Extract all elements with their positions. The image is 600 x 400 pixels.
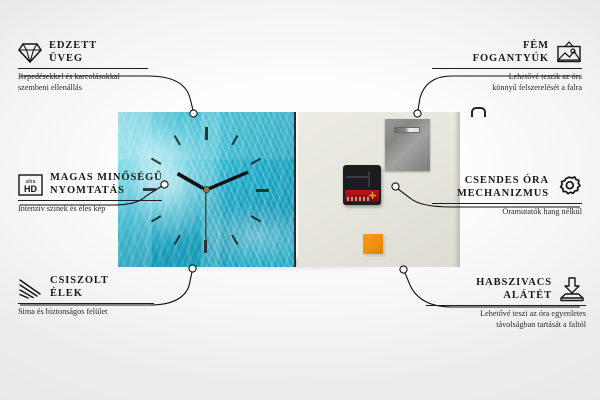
svg-text:HD: HD: [24, 184, 37, 194]
callout-sub-line1: Lehetővé teszi az óra egyenletes: [426, 309, 586, 320]
clock-tick-12: [205, 127, 208, 140]
clock-tick-5: [231, 234, 238, 245]
clock-tick-6: [205, 240, 208, 253]
infographic-stage: EDZETT ÜVEG Repedésekkel és karcolásokka…: [0, 0, 600, 400]
diamond-icon: [18, 42, 42, 63]
metal-hanger-plate: [385, 119, 430, 171]
callout-header: FÉM FOGANTYÚK: [432, 40, 582, 65]
callout-divider: [18, 68, 148, 69]
callout-header: ultra HD MAGAS MINŐSÉGŰ NYOMTATÁS: [18, 172, 168, 197]
callout-divider: [18, 200, 162, 201]
callout-divider: [426, 305, 586, 306]
clock-tick-4: [251, 215, 262, 222]
callout-sub-line1: Sima és biztonságos felület: [18, 307, 158, 318]
clock-tick-8: [151, 215, 162, 222]
callout-title-line2: ÉLEK: [50, 288, 109, 301]
clock-tick-3: [256, 189, 269, 192]
hanger-slot: [394, 127, 420, 133]
mechanism-detail-line: [346, 176, 368, 178]
product-image: [118, 112, 460, 267]
clock-center-cap: [204, 187, 209, 192]
callout-sub-line2: szembeni ellenállás: [18, 83, 158, 94]
callout-divider: [18, 303, 154, 304]
clock-mechanism: [343, 165, 381, 205]
callout-polished-edges[interactable]: CSISZOLT ÉLEK Sima és biztonságos felüle…: [18, 275, 158, 318]
callout-foam-spacer[interactable]: HABSZIVACS ALÁTÉT Lehetővé teszi az óra …: [426, 277, 586, 330]
callout-title-line1: CSENDES ÓRA: [457, 175, 549, 188]
callout-divider: [432, 68, 582, 69]
callout-sub-line1: Intenzív színek és éles kép: [18, 204, 168, 215]
callout-title-line2: FOGANTYÚK: [473, 53, 549, 66]
callout-high-quality-print[interactable]: ultra HD MAGAS MINŐSÉGŰ NYOMTATÁS Intenz…: [18, 172, 168, 215]
ultra-hd-icon: ultra HD: [18, 174, 43, 196]
callout-silent-mechanism[interactable]: CSENDES ÓRA MECHANIZMUS Óramutatók hang …: [432, 175, 582, 218]
clock-tick-1: [231, 134, 238, 145]
callout-sub-line1: Óramutatók hang nélkül: [432, 207, 582, 218]
callout-header: CSISZOLT ÉLEK: [18, 275, 158, 300]
callout-title-line1: CSISZOLT: [50, 275, 109, 288]
clock-minute-hand: [205, 170, 249, 191]
callout-sub-line1: Repedésekkel és karcolásokkal: [18, 72, 158, 83]
callout-title-line1: HABSZIVACS: [476, 277, 552, 290]
clock-tick-7: [174, 234, 181, 245]
callout-sub-line2: távolságban tartását a faltól: [426, 320, 586, 331]
polished-edges-icon: [18, 277, 43, 299]
callout-title-line1: EDZETT: [49, 40, 97, 53]
callout-sub-line2: könnyű felszerelését a falra: [432, 83, 582, 94]
callout-title-line1: FÉM: [473, 40, 549, 53]
clock-tick-10: [151, 157, 162, 164]
callout-header: HABSZIVACS ALÁTÉT: [426, 277, 586, 302]
picture-frame-icon: [556, 41, 582, 65]
clock-tick-11: [174, 134, 181, 145]
callout-header: CSENDES ÓRA MECHANIZMUS: [432, 175, 582, 200]
foam-pad: [363, 234, 383, 254]
callout-title-line1: MAGAS MINŐSÉGŰ: [50, 172, 163, 185]
callout-title-line2: ÜVEG: [49, 53, 97, 66]
callout-title-line2: MECHANIZMUS: [457, 188, 549, 201]
press-down-icon: [559, 277, 586, 302]
clock-hour-hand: [176, 171, 207, 191]
battery-label: [347, 197, 369, 201]
mechanism-detail-line-2: [368, 171, 370, 187]
callout-title-line2: ALÁTÉT: [476, 290, 552, 303]
gear-icon: [556, 175, 582, 200]
mechanism-handle: [471, 107, 486, 117]
clock-second-hand: [205, 190, 206, 240]
callout-tempered-glass[interactable]: EDZETT ÜVEG Repedésekkel és karcolásokka…: [18, 40, 158, 93]
clock-tick-2: [251, 157, 262, 164]
callout-metal-handles[interactable]: FÉM FOGANTYÚK Lehetővé teszik az óra kön…: [432, 40, 582, 93]
callout-sub-line1: Lehetővé teszik az óra: [432, 72, 582, 83]
callout-title-line2: NYOMTATÁS: [50, 185, 163, 198]
battery: [345, 190, 379, 202]
callout-header: EDZETT ÜVEG: [18, 40, 158, 65]
callout-divider: [432, 203, 582, 204]
